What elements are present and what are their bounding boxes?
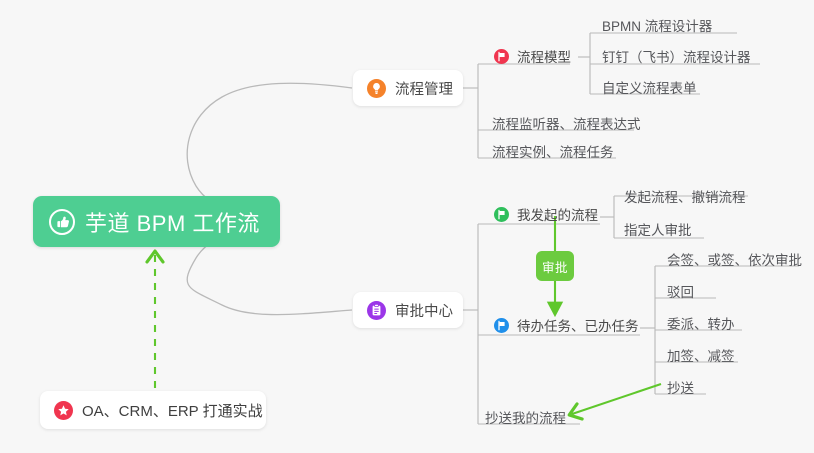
leaf-reject[interactable]: 驳回 [667, 281, 694, 301]
leaf-dingtalk-designer[interactable]: 钉钉（飞书）流程设计器 [602, 46, 751, 66]
leaf-carbon-copy[interactable]: 抄送 [667, 377, 694, 397]
leaf-cc-to-me[interactable]: 抄送我的流程 [485, 407, 566, 427]
footer-node[interactable]: OA、CRM、ERP 打通实战 [40, 391, 266, 429]
approval-badge-label: 审批 [542, 257, 568, 276]
leaf-add-remove-sign[interactable]: 加签、减签 [667, 345, 735, 365]
subnode-my-initiated-label: 我发起的流程 [517, 204, 598, 224]
leaf-custom-form[interactable]: 自定义流程表单 [602, 77, 697, 97]
mindmap-canvas: 芋道 BPM 工作流 流程管理 审批中心 [0, 0, 814, 453]
leaf-countersign[interactable]: 会签、或签、依次审批 [667, 249, 802, 269]
subnode-process-model[interactable]: 流程模型 [494, 46, 571, 66]
leaf-start-cancel-process[interactable]: 发起流程、撤销流程 [624, 186, 746, 206]
clipboard-icon [367, 301, 386, 320]
subnode-todo-done-label: 待办任务、已办任务 [517, 315, 639, 335]
subnode-todo-done[interactable]: 待办任务、已办任务 [494, 315, 639, 335]
thumbs-up-icon [49, 209, 75, 235]
star-icon [54, 401, 73, 420]
root-node-label: 芋道 BPM 工作流 [85, 206, 260, 238]
branch-process-management-label: 流程管理 [395, 78, 453, 99]
leaf-process-listener[interactable]: 流程监听器、流程表达式 [492, 113, 641, 133]
leaf-assignee-approval[interactable]: 指定人审批 [624, 219, 692, 239]
flag-icon [494, 318, 509, 333]
branch-process-management[interactable]: 流程管理 [353, 70, 463, 106]
copy-to-flow-arrow [572, 384, 661, 414]
leaf-delegate-transfer[interactable]: 委派、转办 [667, 313, 735, 333]
leaf-bpmn-designer[interactable]: BPMN 流程设计器 [602, 15, 712, 35]
leaf-process-instance[interactable]: 流程实例、流程任务 [492, 141, 614, 161]
footer-node-label: OA、CRM、ERP 打通实战 [82, 400, 263, 421]
subnode-process-model-label: 流程模型 [517, 46, 571, 66]
flag-icon [494, 49, 509, 64]
flag-icon [494, 207, 509, 222]
lightbulb-icon [367, 79, 386, 98]
subnode-my-initiated[interactable]: 我发起的流程 [494, 204, 598, 224]
branch-approval-center[interactable]: 审批中心 [353, 292, 463, 328]
approval-badge: 审批 [536, 251, 574, 281]
branch-approval-center-label: 审批中心 [395, 300, 453, 321]
root-node[interactable]: 芋道 BPM 工作流 [33, 196, 280, 247]
